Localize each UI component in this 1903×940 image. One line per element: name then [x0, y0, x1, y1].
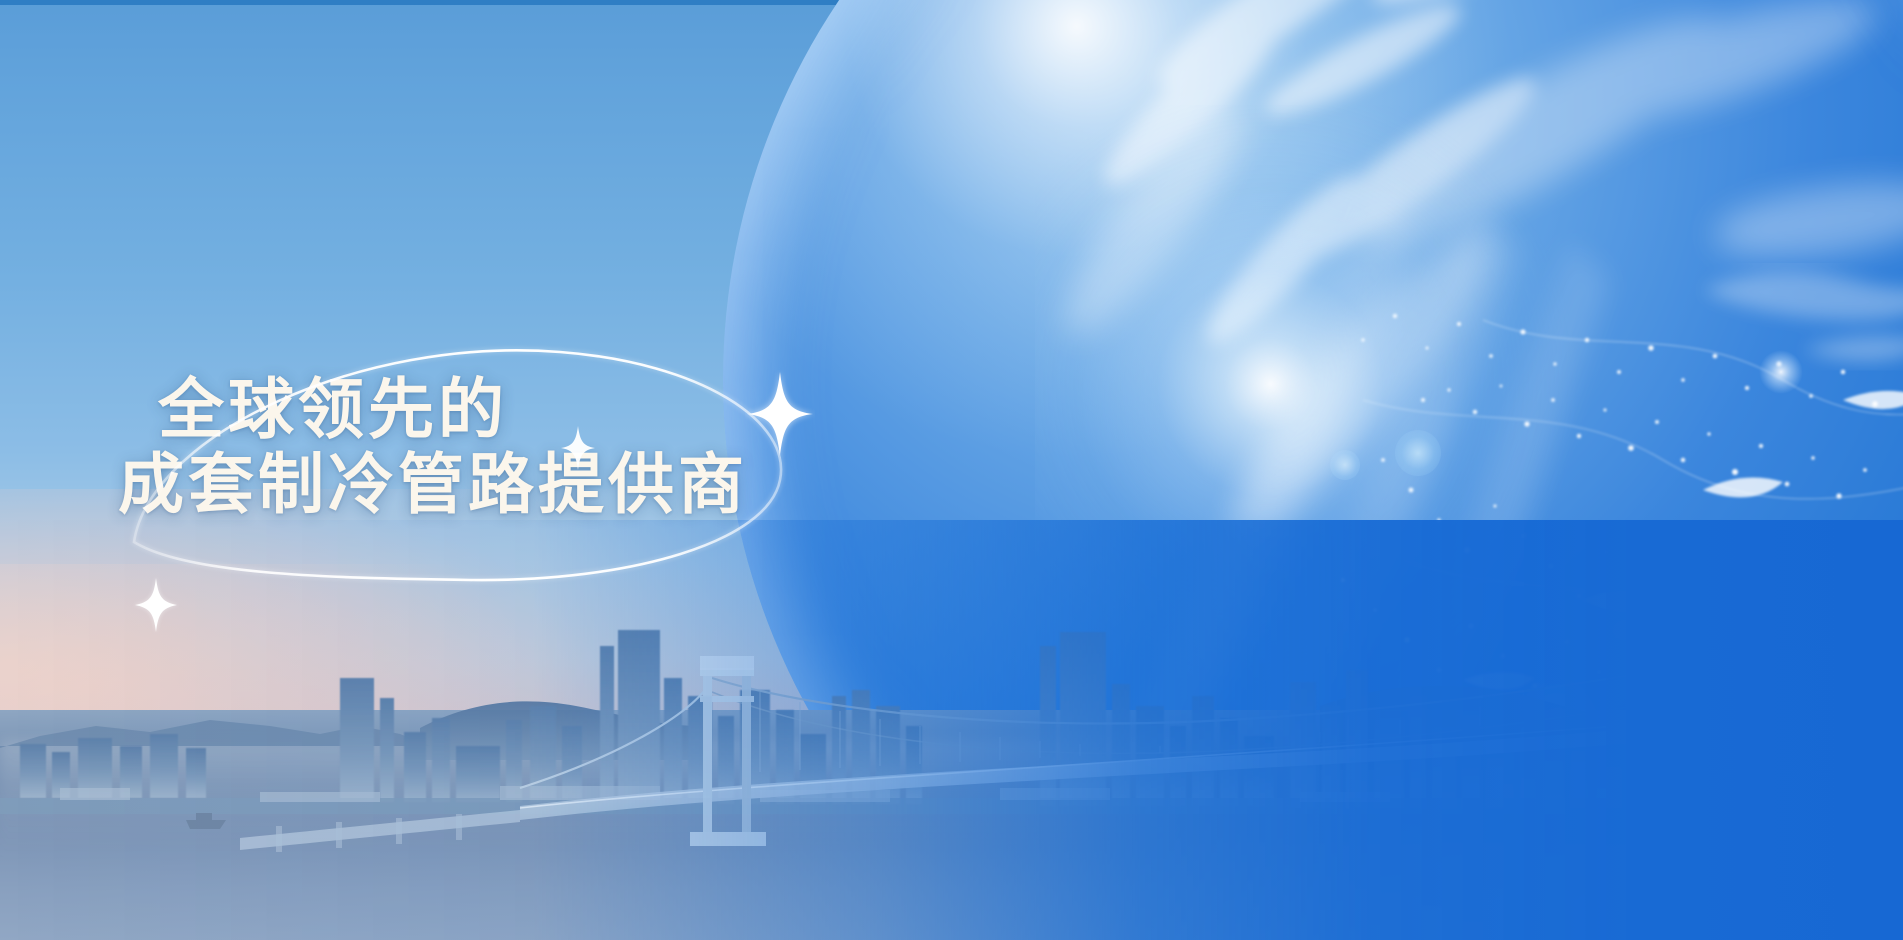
suspension-bridge	[0, 520, 1903, 940]
hero-banner: 全球领先的 成套制冷管路提供商	[0, 0, 1903, 940]
harbor-scenery	[0, 520, 1903, 940]
headline-line-2: 成套制冷管路提供商	[118, 447, 748, 522]
headline-line-1: 全球领先的	[158, 372, 748, 447]
hero-headline: 全球领先的 成套制冷管路提供商	[118, 372, 748, 521]
bridge-tower	[690, 656, 766, 846]
